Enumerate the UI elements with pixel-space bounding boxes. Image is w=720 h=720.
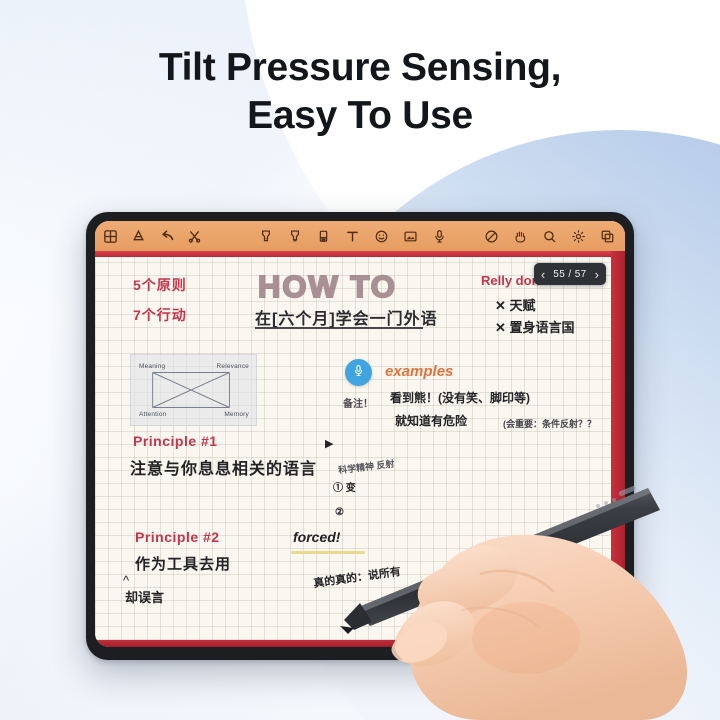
note-title: HOW TO (258, 269, 397, 305)
note-subtitle: 在[六个月]学会一门外语 (255, 305, 438, 329)
note-left-item-1: 5个原则 (133, 275, 187, 295)
caret-marker-icon: ^ (123, 573, 129, 588)
note-remark-line-1: 看到熊！(没有笑、脚印等) (390, 389, 530, 406)
note-subtitle-underline (255, 327, 423, 329)
note-enum-2: ② (335, 507, 344, 518)
next-page-button[interactable]: › (595, 268, 599, 281)
toolbar-group-left (102, 228, 203, 245)
diagram-label-memory: Memory (224, 411, 249, 418)
examples-label: examples (385, 363, 453, 380)
headline-line-2: Easy To Use (0, 92, 720, 140)
headline-line-1: Tilt Pressure Sensing, (159, 46, 561, 89)
prev-page-button[interactable]: ‹ (541, 268, 545, 281)
note-right-item-2: ✕ 置身语言国 (495, 317, 575, 336)
diagram-label-relevance: Relevance (216, 363, 249, 370)
note-left-item-2: 7个行动 (133, 305, 187, 325)
forced-highlight (291, 551, 365, 554)
text-icon[interactable] (344, 228, 361, 245)
microphone-icon (352, 364, 365, 382)
diagram-label-meaning: Meaning (139, 363, 165, 370)
principle-2-label: Principle #2 (135, 529, 220, 545)
page-indicator: 55 / 57 (553, 269, 586, 280)
toolbar-group-right (483, 228, 618, 245)
note-page-canvas[interactable]: HOW TO 在[六个月]学会一门外语 5个原则 7个行动 Relly don'… (95, 257, 611, 640)
principle-2-tail: 却误言 (125, 587, 164, 606)
principle-2-text: 作为工具去用 (135, 553, 231, 574)
grid-icon[interactable] (102, 228, 119, 245)
notebook-cover-top-edge (95, 251, 625, 257)
note-remark-line-3: (会重要：条件反射？？ (503, 417, 596, 430)
undo-icon[interactable] (158, 228, 175, 245)
forced-note: forced! (293, 529, 340, 545)
arrow-marker-icon: ▶ (325, 437, 333, 450)
toolbar-group-tools (257, 228, 448, 245)
page-title: Tilt Pressure Sensing, Easy To Use (0, 44, 720, 141)
copy-icon[interactable] (599, 228, 616, 245)
diagram-label-attention: Attention (139, 411, 166, 418)
highlighter-icon[interactable] (286, 228, 303, 245)
inserted-diagram[interactable]: Meaning Relevance Attention Memory (130, 354, 257, 426)
principle-1-text: 注意与你息息相关的语言 (130, 455, 317, 479)
app-toolbar (95, 221, 625, 251)
page-navigator: ‹ 55 / 57 › (534, 263, 606, 285)
hand-icon[interactable] (512, 228, 529, 245)
note-enum-1: ① 变 (333, 479, 356, 494)
no-fill-icon[interactable] (483, 228, 500, 245)
note-remark-small: 备注！ (343, 395, 373, 410)
emoji-icon[interactable] (373, 228, 390, 245)
pen-icon[interactable] (257, 228, 274, 245)
note-remark-line-2: 就知道有危险 (395, 412, 467, 429)
notebook-cover-bottom-edge (95, 640, 625, 647)
image-icon[interactable] (402, 228, 419, 245)
lasso-icon[interactable] (130, 228, 147, 245)
note-right-item-1: ✕ 天赋 (495, 295, 536, 314)
notebook-cover-right-edge (611, 251, 625, 647)
search-icon[interactable] (541, 228, 558, 245)
scissors-icon[interactable] (186, 228, 203, 245)
tablet-device: HOW TO 在[六个月]学会一门外语 5个原则 7个行动 Relly don'… (86, 212, 634, 660)
principle-1-side-note: 科学精神 反射 (337, 457, 395, 477)
audio-play-button[interactable] (345, 359, 372, 386)
gear-icon[interactable] (570, 228, 587, 245)
principle-2-side-note: 真的真的：说所有 (312, 563, 401, 591)
eraser-icon[interactable] (315, 228, 332, 245)
promo-image: Tilt Pressure Sensing, Easy To Use (0, 0, 720, 720)
principle-1-label: Principle #1 (133, 433, 218, 449)
microphone-icon[interactable] (431, 228, 448, 245)
tablet-screen: HOW TO 在[六个月]学会一门外语 5个原则 7个行动 Relly don'… (95, 221, 625, 647)
